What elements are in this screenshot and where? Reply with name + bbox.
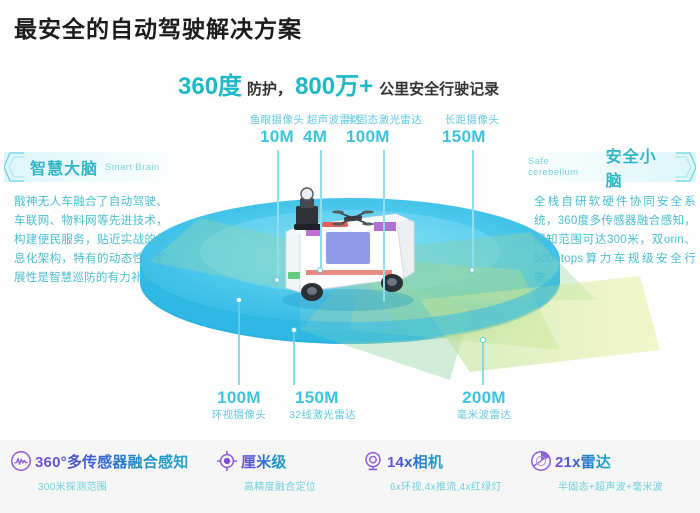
infographic-root: 最安全的自动驾驶解决方案 360度 防护， 800万+ 公里安全行驶记录 bbox=[0, 0, 700, 513]
banner-bracket-left-icon bbox=[4, 152, 26, 182]
top-sensor-longcam-name: 长距摄像头 bbox=[432, 114, 512, 127]
vehicle-spinning-lidar bbox=[301, 188, 313, 200]
feature-centimeter: 厘米级 高精度融合定位 bbox=[216, 450, 316, 493]
leader-line-lidar bbox=[383, 150, 385, 302]
bottom-sensor-lidar32-name: 32线激光雷达 bbox=[289, 408, 377, 422]
feature-360-fusion: 360°多传感器融合感知 300米探测范围 bbox=[10, 450, 188, 493]
bottom-sensor-mmwave-value: 200M bbox=[444, 388, 524, 408]
feature-centimeter-title: 厘米级 bbox=[241, 451, 287, 472]
endpoint-dot-100m bbox=[236, 297, 242, 303]
top-sensor-lidar-name: 半固态激光雷达 bbox=[332, 114, 436, 127]
feature-bar: 360°多传感器融合感知 300米探测范围 厘米级 高精度融 bbox=[0, 440, 700, 513]
feature-cameras-head: 14x相机 bbox=[362, 450, 502, 472]
vehicle-license-plate bbox=[288, 272, 300, 279]
panel-safe-cerebellum: Safe cerebellum 安全小脑 全栈自研软硬件协同安全系统，360度多… bbox=[528, 152, 696, 288]
feature-360-head: 360°多传感器融合感知 bbox=[10, 450, 188, 472]
feature-centimeter-head: 厘米级 bbox=[216, 450, 316, 472]
endpoint-dot-fisheye bbox=[274, 277, 280, 283]
vehicle-wheel-front-hub bbox=[387, 278, 397, 286]
endpoint-dot-longcam bbox=[469, 267, 475, 273]
endpoint-dot-ultrasonic bbox=[317, 267, 323, 273]
camera-circle-icon bbox=[362, 450, 384, 472]
radar-sweep-icon bbox=[530, 450, 552, 472]
safe-cerebellum-title-en: Safe cerebellum bbox=[528, 156, 599, 178]
leader-line-longcam bbox=[472, 150, 474, 270]
top-sensor-longcam: 长距摄像头 150M bbox=[432, 114, 512, 147]
vehicle-brand-stripe-2 bbox=[374, 222, 396, 231]
vehicle-display-screen bbox=[330, 236, 366, 260]
feature-cameras-sub: 6x环视,4x推流,4x红绿灯 bbox=[390, 478, 502, 493]
vehicle-roof-rack bbox=[294, 224, 322, 230]
crosshair-target-icon bbox=[216, 450, 238, 472]
bottom-sensor-mmwave-name: 毫米波雷达 bbox=[444, 408, 524, 422]
panel-smart-brain: 智慧大脑 Smart Brain 戬神无人车融合了自动驾驶、车联网、物料网等先进… bbox=[4, 152, 172, 288]
feature-centimeter-sub: 高精度融合定位 bbox=[244, 478, 316, 493]
feature-360-title: 360°多传感器融合感知 bbox=[35, 451, 188, 472]
feature-cameras-title: 14x相机 bbox=[387, 451, 443, 472]
bottom-sensor-lidar32: 150M 32线激光雷达 bbox=[289, 388, 377, 422]
safe-cerebellum-banner: Safe cerebellum 安全小脑 bbox=[528, 152, 696, 182]
feature-radars-title: 21x雷达 bbox=[555, 451, 611, 472]
waveform-circle-icon bbox=[10, 450, 32, 472]
bottom-sensor-lidar32-value: 150M bbox=[289, 388, 377, 408]
feature-radars-head: 21x雷达 bbox=[530, 450, 663, 472]
feature-radars-sub: 半固态+超声波+毫米波 bbox=[558, 478, 663, 493]
bottom-sensor-mmwave: 200M 毫米波雷达 bbox=[444, 388, 524, 422]
endpoint-dot-150m bbox=[291, 327, 297, 333]
endpoint-dot-200m bbox=[480, 337, 486, 343]
smart-brain-body: 戬神无人车融合了自动驾驶、车联网、物料网等先进技术，构建便民服务，贴近实战的信息… bbox=[4, 193, 172, 288]
feature-radars: 21x雷达 半固态+超声波+毫米波 bbox=[530, 450, 663, 493]
banner-bracket-right-icon bbox=[674, 152, 696, 182]
smart-brain-title-en: Smart Brain bbox=[105, 162, 160, 173]
top-sensor-lidar-value: 100M bbox=[332, 127, 436, 147]
vehicle-rear-face bbox=[286, 226, 300, 292]
leader-line-fisheye bbox=[277, 150, 279, 280]
bottom-sensor-surround: 100M 环视摄像头 bbox=[199, 388, 279, 422]
safe-cerebellum-title-cn: 安全小脑 bbox=[606, 143, 670, 191]
bottom-sensor-surround-name: 环视摄像头 bbox=[199, 408, 279, 422]
vehicle-wheel-rear-hub bbox=[307, 287, 317, 295]
leader-line-ultrasonic bbox=[320, 150, 322, 270]
smart-brain-banner: 智慧大脑 Smart Brain bbox=[4, 152, 172, 182]
feature-cameras: 14x相机 6x环视,4x推流,4x红绿灯 bbox=[362, 450, 502, 493]
safe-cerebellum-body: 全栈自研软硬件协同安全系统，360度多传感器融合感知，感知范围可达300米，双o… bbox=[528, 193, 696, 288]
feature-360-sub: 300米探测范围 bbox=[38, 478, 188, 493]
smart-brain-title-cn: 智慧大脑 bbox=[30, 155, 98, 179]
bottom-sensor-surround-value: 100M bbox=[199, 388, 279, 408]
top-sensor-longcam-value: 150M bbox=[432, 127, 512, 147]
top-sensor-lidar: 半固态激光雷达 100M bbox=[332, 114, 436, 147]
